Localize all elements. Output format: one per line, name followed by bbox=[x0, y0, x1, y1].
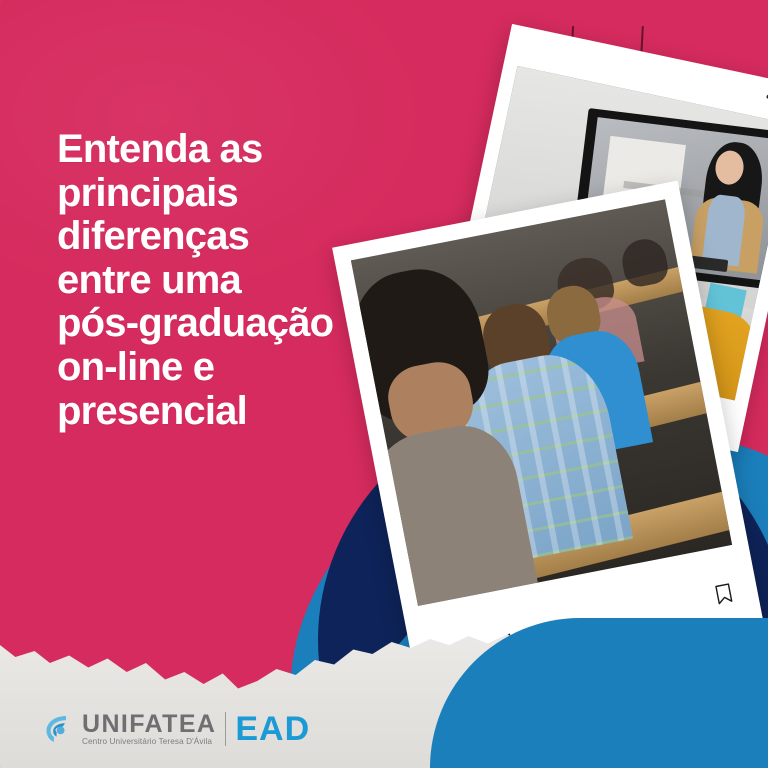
scene-classroom bbox=[351, 199, 732, 606]
logo-ead: EAD bbox=[235, 712, 310, 746]
logo-tagline: Centro Universitário Teresa D'Ávila bbox=[82, 738, 216, 746]
card-presencial-photo bbox=[351, 199, 732, 606]
poster-canvas: Entenda as principais diferenças entre u… bbox=[0, 0, 768, 768]
logo-name: UNIFATEA bbox=[82, 712, 216, 737]
brand-logo: UNIFATEA Centro Universitário Teresa D'Á… bbox=[44, 712, 310, 746]
bookmark-icon[interactable] bbox=[713, 582, 737, 611]
unifatea-swoosh-icon bbox=[44, 714, 72, 744]
logo-divider bbox=[225, 712, 226, 746]
